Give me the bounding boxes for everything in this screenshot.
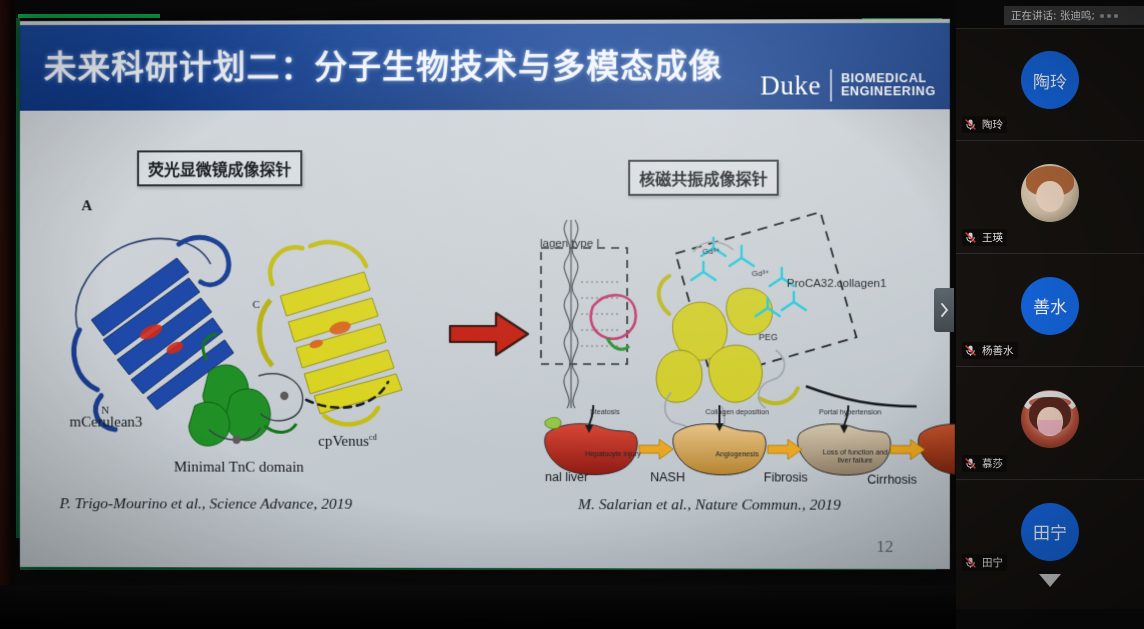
participant-footer: 王瑛	[962, 229, 1007, 246]
scroll-down-button[interactable]	[1039, 574, 1061, 587]
avatar	[1021, 390, 1079, 448]
share-border-top	[18, 14, 160, 18]
mic-muted-icon	[964, 457, 977, 470]
label-proca32-collagen1: ProCA32.collagen1	[787, 278, 887, 290]
transition-label-collagen-deposition: Collagen deposition	[705, 408, 768, 416]
stage-name-nash: NASH	[650, 470, 685, 484]
duke-logo: Duke BIOMEDICAL ENGINEERING	[760, 69, 936, 101]
transition-label-hepatocyte-injury: Hepatocyte injury	[585, 450, 641, 458]
duke-department-line2: ENGINEERING	[841, 85, 936, 98]
page-title: 未来科研计划二：分子生物技术与多模态成像	[44, 39, 783, 88]
section-header-fluorescence: 荧光显微镜成像探针	[137, 150, 302, 186]
citation-left: P. Trigo-Mourino et al., Science Advance…	[60, 495, 352, 513]
participant-name: 陶玲	[982, 117, 1003, 132]
label-mcerulean3: mCerulean3	[70, 415, 143, 432]
screen-photo: 未来科研计划二：分子生物技术与多模态成像 Duke BIOMEDICAL ENG…	[0, 0, 1144, 629]
label-gd-ion-1: Gd³⁺	[702, 247, 720, 256]
speaking-dots-icon	[1100, 14, 1118, 18]
screen-share-region: 未来科研计划二：分子生物技术与多模态成像 Duke BIOMEDICAL ENG…	[0, 0, 956, 629]
avatar: 善水	[1021, 277, 1079, 335]
slide-page-number: 12	[876, 537, 893, 557]
mic-muted-icon	[964, 231, 977, 244]
participant-footer: 慕莎	[962, 455, 1007, 472]
duke-department: BIOMEDICAL ENGINEERING	[832, 72, 936, 98]
transition-label-angiogenesis: Angiogenesis	[715, 450, 758, 458]
active-speaker-banner: 正在讲话: 张迪鸣;	[1004, 6, 1144, 25]
participant-footer: 陶玲	[962, 116, 1007, 133]
avatar: 田宁	[1021, 503, 1079, 561]
transition-label-portal-hypertension: Portal hypertension	[819, 408, 881, 416]
monitor-bezel	[0, 0, 14, 629]
participant-footer: 杨善水	[962, 342, 1018, 359]
label-gd-ion-2: Gd³⁺	[752, 269, 770, 278]
participant-footer: 田宁	[962, 554, 1007, 571]
participant-name: 慕莎	[982, 456, 1003, 471]
fret-biosensor-figure: N C	[60, 200, 458, 450]
avatar	[1021, 164, 1079, 222]
duke-wordmark: Duke	[760, 70, 830, 101]
label-cpvenus: cpVenuscd	[318, 432, 377, 451]
participant-tile[interactable]: 田宁 田宁	[956, 479, 1144, 609]
participant-tile[interactable]: 慕莎	[956, 366, 1144, 479]
stage-name-cirrhosis: Cirrhosis	[867, 473, 917, 487]
active-speaker-label: 正在讲话: 张迪鸣;	[1011, 8, 1095, 23]
collapse-panel-button[interactable]	[934, 288, 954, 332]
label-collagen-type-i: lagen type I	[540, 238, 600, 250]
citation-right: M. Salarian et al., Nature Commun., 2019	[578, 496, 841, 515]
stage-name-normal-liver: nal liver	[545, 470, 588, 484]
transition-label-liver-failure: Loss of function and liver failure	[817, 448, 893, 465]
participant-name: 王瑛	[982, 230, 1003, 245]
mic-muted-icon	[964, 118, 977, 131]
participant-tile[interactable]: 善水 杨善水	[956, 253, 1144, 366]
svg-text:C: C	[252, 299, 259, 311]
red-arrow-icon	[448, 310, 530, 358]
participant-tile[interactable]: 陶玲 陶玲	[956, 28, 1144, 140]
section-header-mri: 核磁共振成像探针	[628, 160, 779, 196]
mic-muted-icon	[964, 344, 977, 357]
label-tnc-domain: Minimal TnC domain	[174, 460, 304, 477]
chevron-right-icon	[940, 303, 949, 317]
stage-name-fibrosis: Fibrosis	[764, 470, 808, 484]
participant-tile[interactable]: 王瑛	[956, 140, 1144, 253]
presentation-slide: 未来科研计划二：分子生物技术与多模态成像 Duke BIOMEDICAL ENG…	[20, 19, 950, 569]
mic-muted-icon	[964, 556, 977, 569]
transition-label-steatosis: Steatosis	[590, 408, 620, 416]
label-peg: PEG	[759, 332, 778, 342]
participant-filmstrip: 正在讲话: 张迪鸣; 陶玲 陶玲	[956, 0, 1144, 629]
participant-name: 田宁	[982, 555, 1003, 570]
participant-name: 杨善水	[982, 343, 1014, 358]
slide-title-bar: 未来科研计划二：分子生物技术与多模态成像 Duke BIOMEDICAL ENG…	[20, 23, 950, 111]
monitor-bezel-bottom	[0, 585, 956, 629]
avatar: 陶玲	[1021, 51, 1079, 109]
logo-divider	[830, 69, 832, 101]
